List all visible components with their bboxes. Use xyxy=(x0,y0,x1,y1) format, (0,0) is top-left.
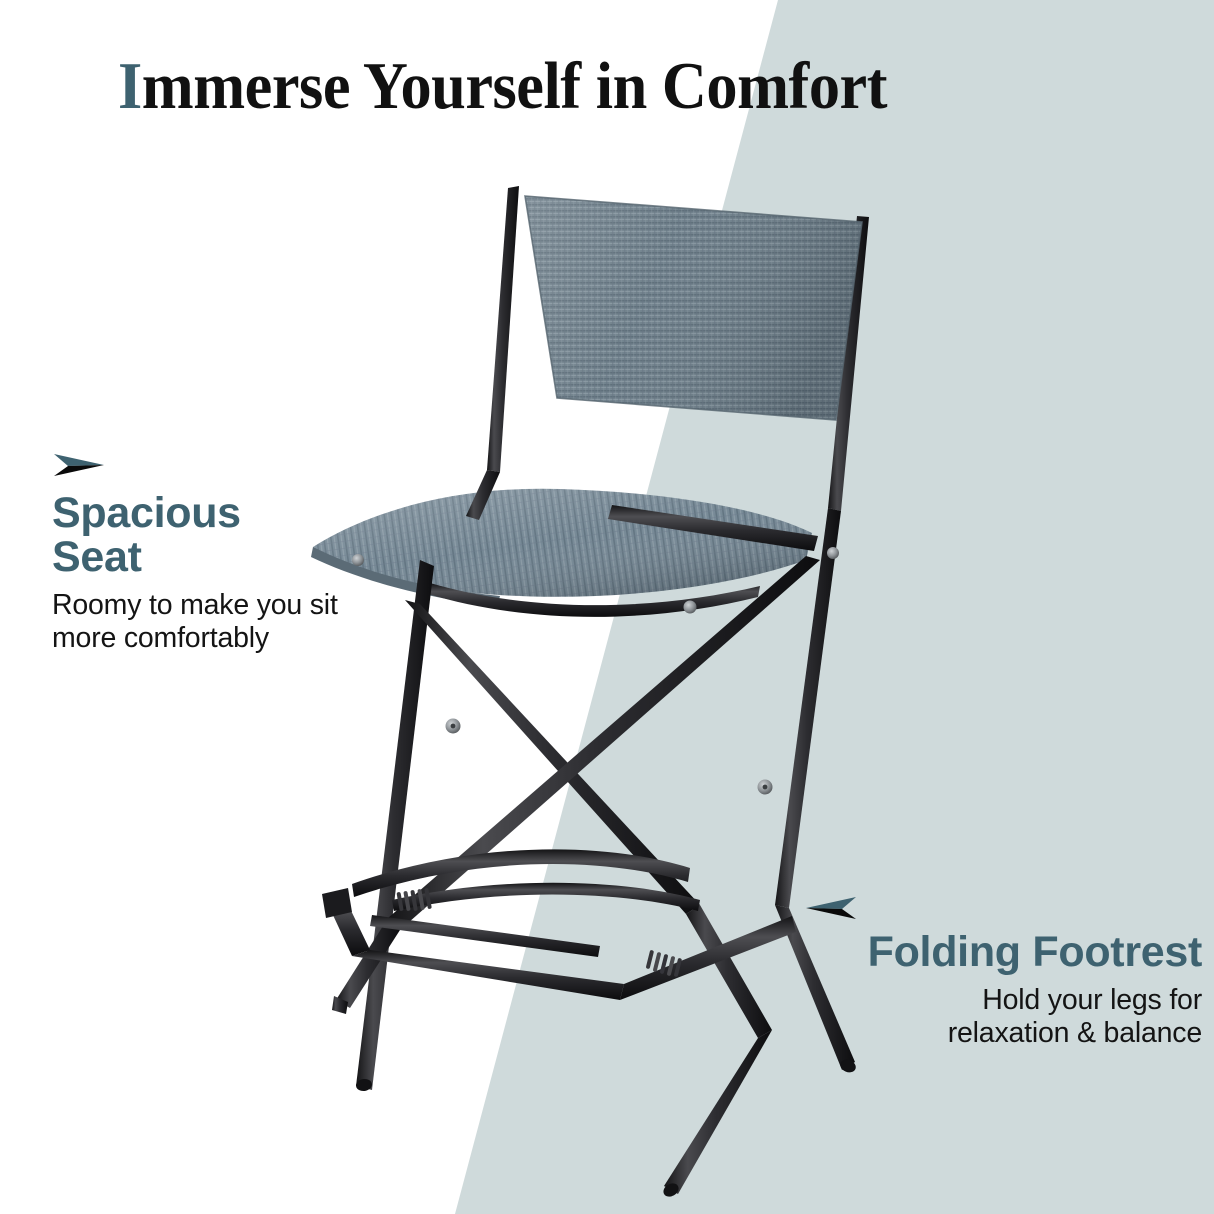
backrest-assembly xyxy=(487,186,869,511)
feature-title-line-1: Spacious xyxy=(52,489,241,537)
arrow-left-icon xyxy=(760,893,1202,927)
feature-desc-spacious-seat: Roomy to make you sit more comfortably xyxy=(52,589,382,656)
backrest-left-post xyxy=(487,186,519,472)
seat-assembly xyxy=(311,489,818,617)
feature-title-spacious-seat: Spacious Seat xyxy=(52,492,382,580)
footrest-mid-bar xyxy=(370,915,600,957)
pivot-bolt-right-center xyxy=(763,785,768,790)
feature-desc-line-2: relaxation & balance xyxy=(948,1017,1202,1049)
pivot-bolt-seat-right xyxy=(684,601,697,614)
pivot-bolt-seat-far-right xyxy=(827,547,839,559)
feature-title-line-2: Seat xyxy=(52,533,142,581)
feature-desc-line-1: Roomy to make you sit xyxy=(52,589,338,621)
pivot-bolt-left-center xyxy=(451,724,456,729)
infographic-canvas: Immerse Yourself in Comfort xyxy=(0,0,1214,1214)
backrest-fabric-shading xyxy=(525,196,862,420)
feature-desc-folding-footrest: Hold your legs for relaxation & balance xyxy=(760,984,1202,1051)
feature-desc-line-2: more comfortably xyxy=(52,622,269,654)
footrest-front-rail xyxy=(352,950,624,1000)
feature-title-folding-footrest: Folding Footrest xyxy=(760,931,1202,975)
feature-spacious-seat: Spacious Seat Roomy to make you sit more… xyxy=(52,450,382,655)
arrow-right-icon xyxy=(52,450,382,484)
front-right-leg-lower xyxy=(664,1030,772,1194)
feature-folding-footrest: Folding Footrest Hold your legs for rela… xyxy=(760,893,1202,1051)
feature-desc-line-1: Hold your legs for xyxy=(982,984,1202,1016)
